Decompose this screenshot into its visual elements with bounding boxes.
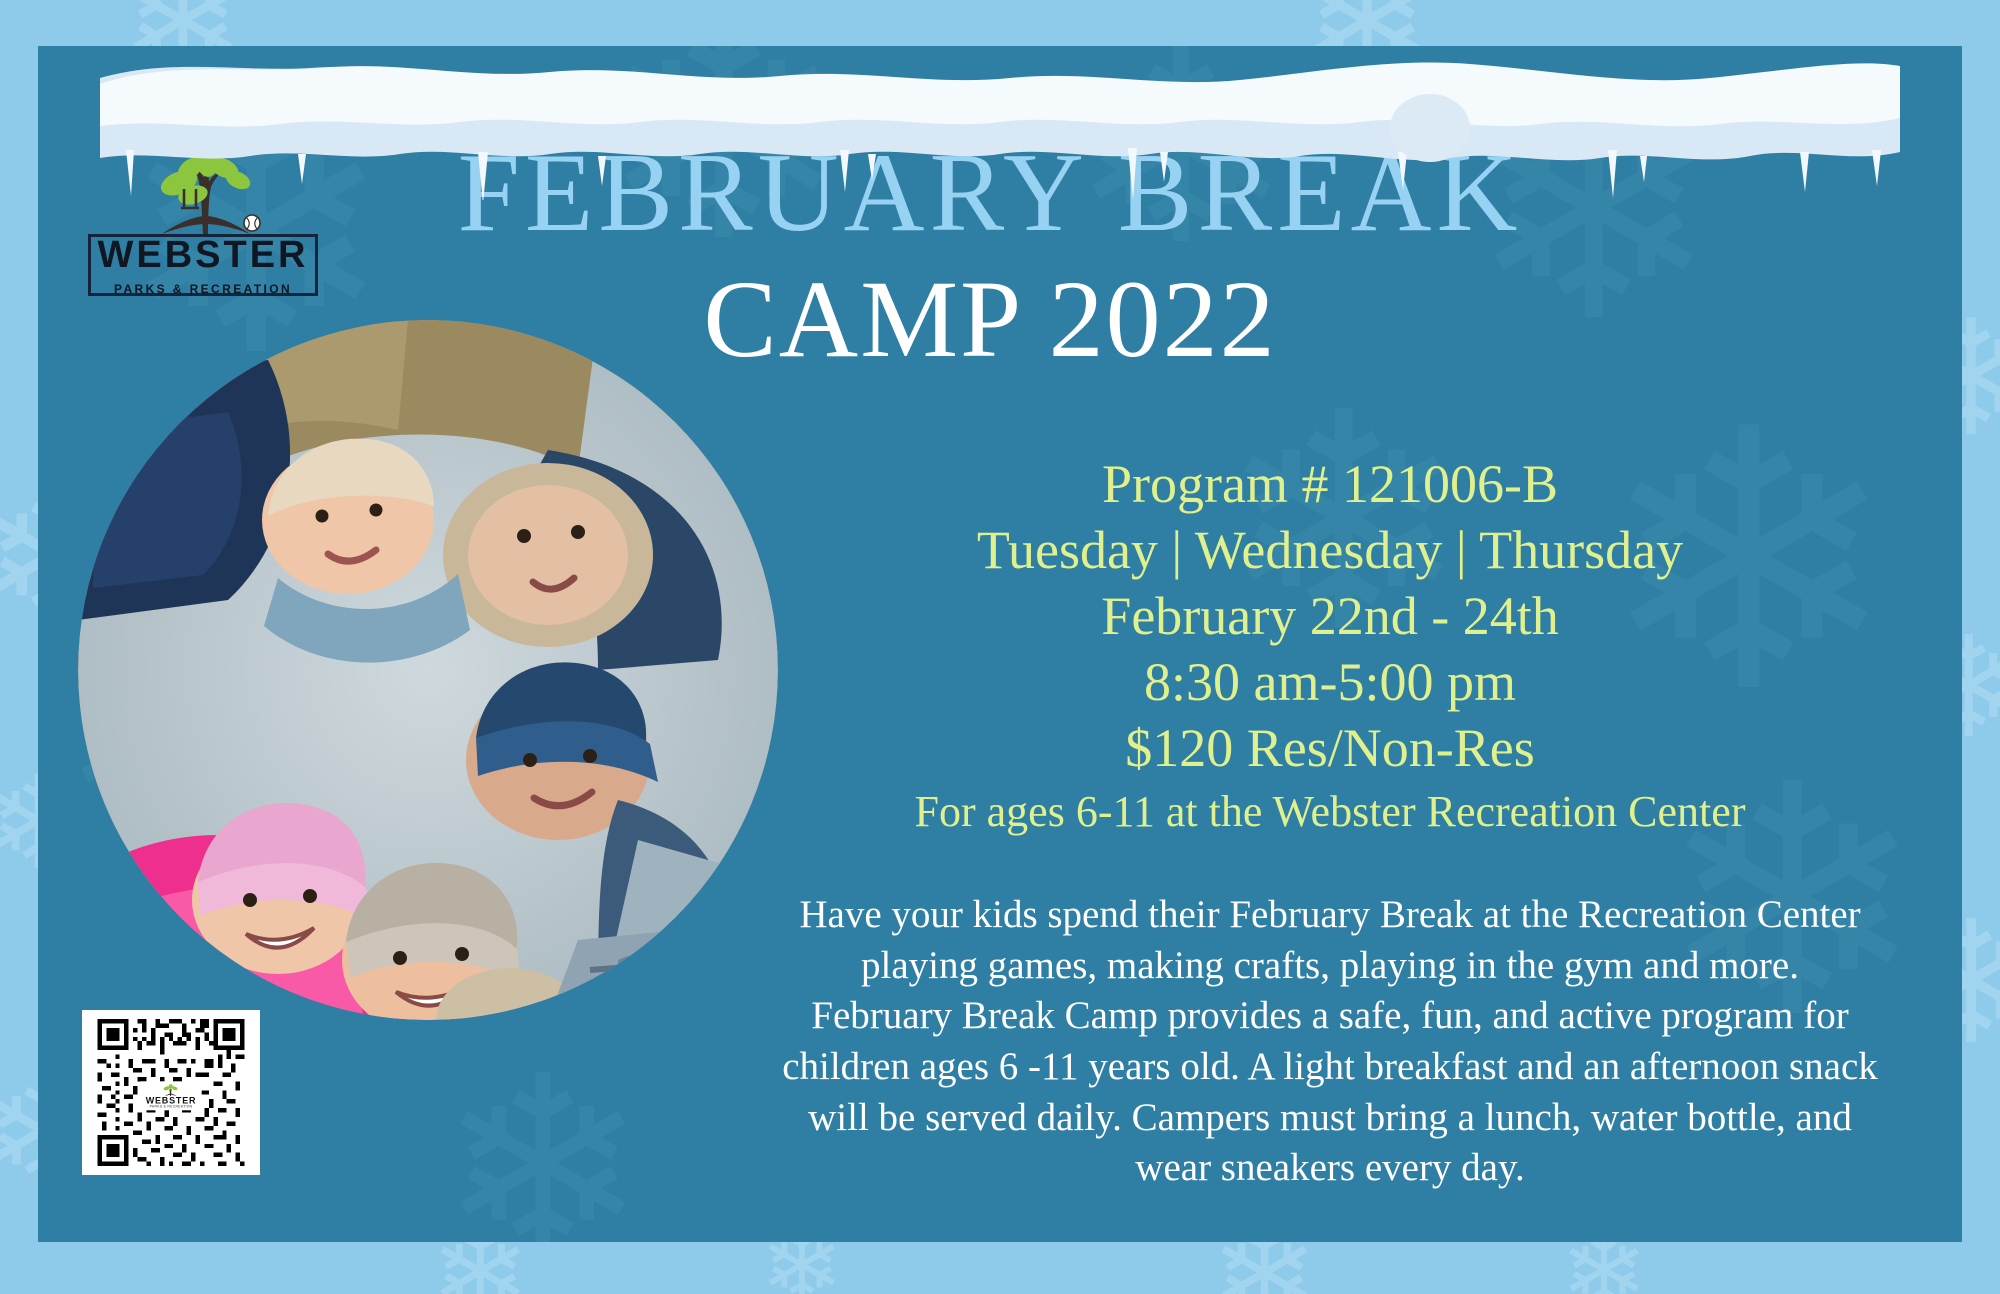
qr-center-logo: WEBSTER PARKS & RECREATION (141, 1081, 202, 1110)
program-days: Tuesday | Wednesday | Thursday (740, 518, 1920, 584)
qr-code[interactable]: WEBSTER PARKS & RECREATION (82, 1010, 260, 1175)
program-details: Program # 121006-B Tuesday | Wednesday |… (740, 452, 1920, 839)
description-line: playing games, making crafts, playing in… (740, 941, 1920, 992)
logo-subwordmark: PARKS & RECREATION (114, 283, 292, 295)
flyer-panel: ❄ ❄ ❄ ❄ ❄ ❄ ❄ ❄ ❄ (38, 46, 1962, 1242)
program-ages-location: For ages 6-11 at the Webster Recreation … (740, 785, 1920, 839)
logo-wordmark: WEBSTER (98, 236, 309, 274)
children-in-snow-photo (78, 320, 778, 1020)
program-dates: February 22nd - 24th (740, 584, 1920, 650)
description-line: wear sneakers every day. (740, 1143, 1920, 1194)
page-title: FEBRUARY BREAK (410, 135, 1570, 253)
page-subtitle: CAMP 2022 (410, 262, 1570, 378)
description-line: children ages 6 -11 years old. A light b… (740, 1042, 1920, 1093)
program-number: Program # 121006-B (740, 452, 1920, 518)
program-price: $120 Res/Non-Res (740, 716, 1920, 782)
description-line: February Break Camp provides a safe, fun… (740, 991, 1920, 1042)
description-line: will be served daily. Campers must bring… (740, 1093, 1920, 1144)
webster-parks-recreation-logo: WEBSTER PARKS & RECREATION (88, 142, 318, 292)
program-time: 8:30 am-5:00 pm (740, 650, 1920, 716)
program-description: Have your kids spend their February Brea… (740, 890, 1920, 1194)
baseball-icon (244, 215, 260, 231)
qr-center-sublabel: PARKS & RECREATION (146, 1105, 197, 1108)
flyer-root: ❄ ❄ ❄ ❄ ❄ ❄ ❄ ❄ ❄ ❄ ❄ ❄ ❄ ❄ ❄ ❄ ❄ ❄ ❄ ❄ … (0, 0, 2000, 1294)
description-line: Have your kids spend their February Brea… (740, 890, 1920, 941)
camp-photo (78, 320, 778, 1020)
snowflake-decoration: ❄ (438, 1046, 647, 1242)
tree-icon (146, 142, 266, 238)
logo-nameplate: WEBSTER PARKS & RECREATION (88, 234, 318, 296)
